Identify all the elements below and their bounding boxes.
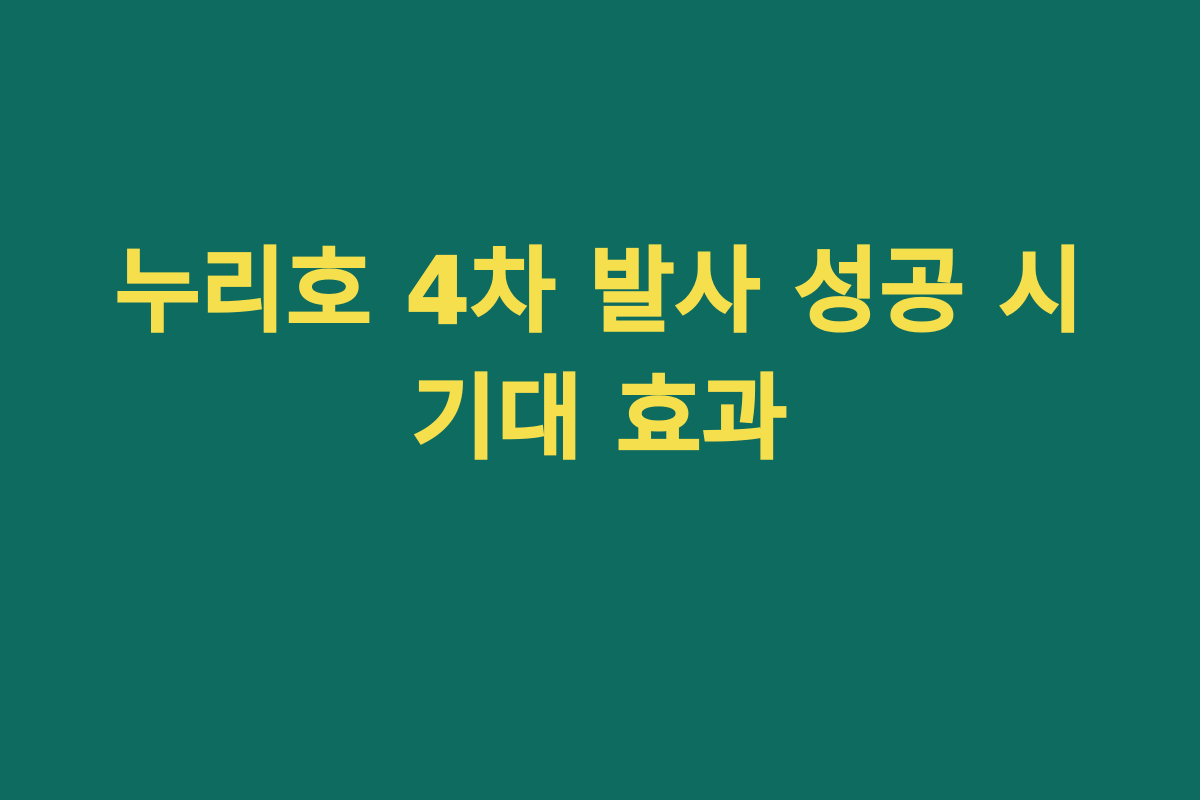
page-title-line-2: 기대 효과: [115, 356, 1084, 483]
page-title-line-1: 누리호 4차 발사 성공 시: [115, 229, 1084, 356]
page-title: 누리호 4차 발사 성공 시 기대 효과: [115, 229, 1084, 483]
title-card: 누리호 4차 발사 성공 시 기대 효과: [0, 0, 1200, 800]
